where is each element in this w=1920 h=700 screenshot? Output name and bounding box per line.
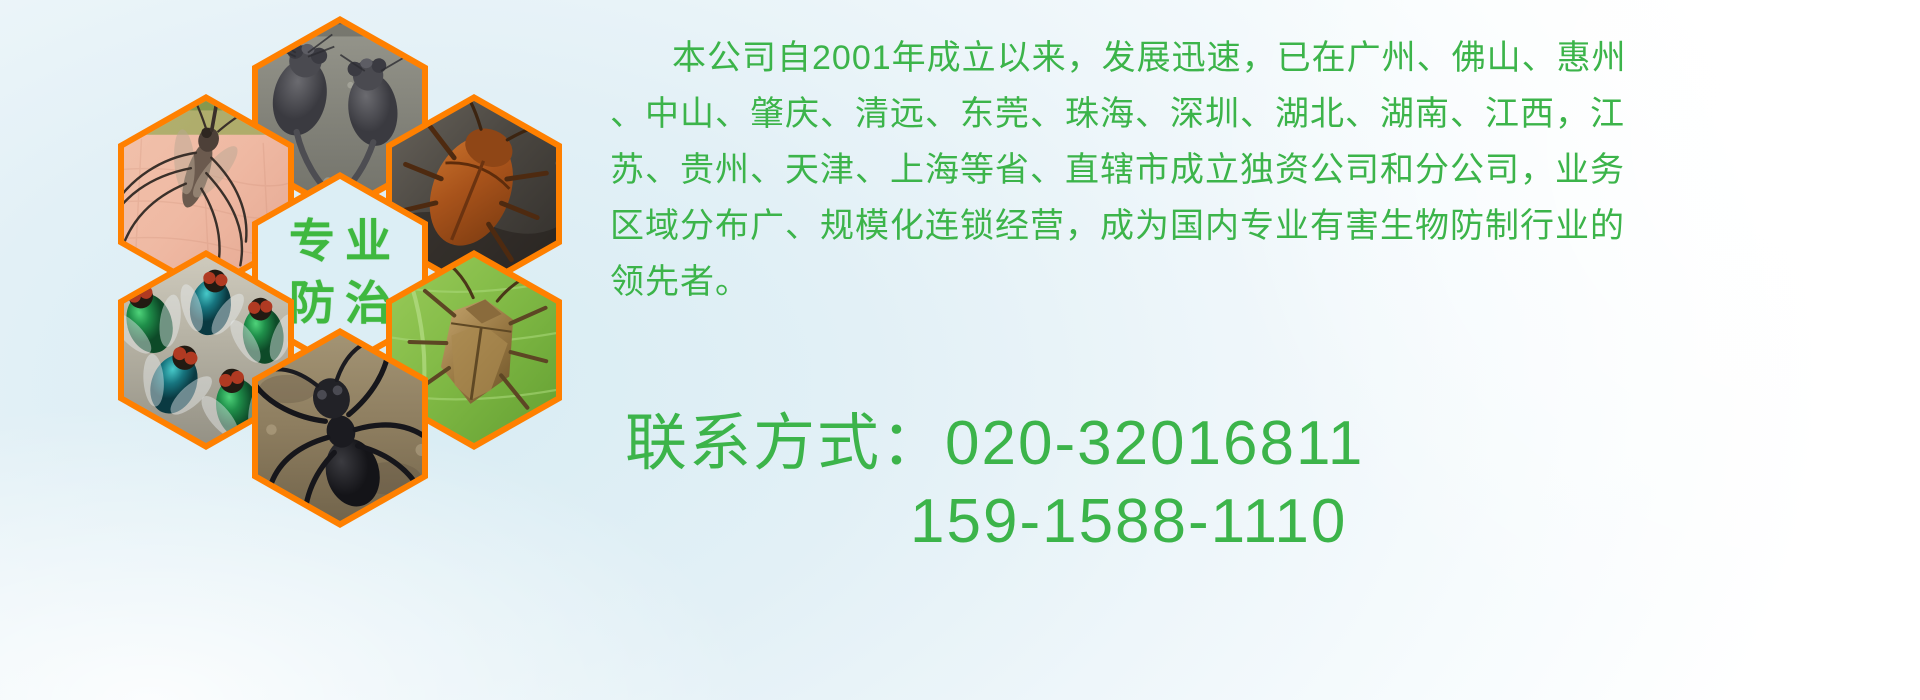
intro-line-2: 、中山、肇庆、清远、东莞、珠海、深圳、湖北、湖南、江西，江 (610, 86, 1900, 142)
contact-phone-mobile[interactable]: 159-1588-1110 (625, 483, 1915, 561)
logo-line-2: 防治 (279, 272, 401, 334)
intro-line-1: 本公司自2001年成立以来，发展迅速，已在广州、佛山、惠州 (610, 30, 1900, 86)
pest-control-banner: 专业 防治 (0, 0, 1920, 700)
ant-photo (258, 335, 422, 521)
intro-line-5: 领先者。 (610, 254, 1900, 310)
intro-text-block: 本公司自2001年成立以来，发展迅速，已在广州、佛山、惠州 、中山、肇庆、清远、… (610, 30, 1900, 310)
intro-paragraph: 本公司自2001年成立以来，发展迅速，已在广州、佛山、惠州 、中山、肇庆、清远、… (610, 30, 1900, 310)
logo-line-1: 专业 (279, 210, 401, 272)
intro-line-3: 苏、贵州、天津、上海等省、直辖市成立独资公司和分公司，业务 (610, 142, 1900, 198)
contact-block: 联系方式：020-32016811 159-1588-1110 (625, 405, 1915, 561)
intro-line-4: 区域分布广、规模化连锁经营，成为国内专业有害生物防制行业的 (610, 198, 1900, 254)
ant-icon (258, 335, 422, 521)
contact-phone-primary[interactable]: 联系方式：020-32016811 (625, 405, 1915, 483)
honeycomb-gallery: 专业 防治 (100, 10, 580, 570)
